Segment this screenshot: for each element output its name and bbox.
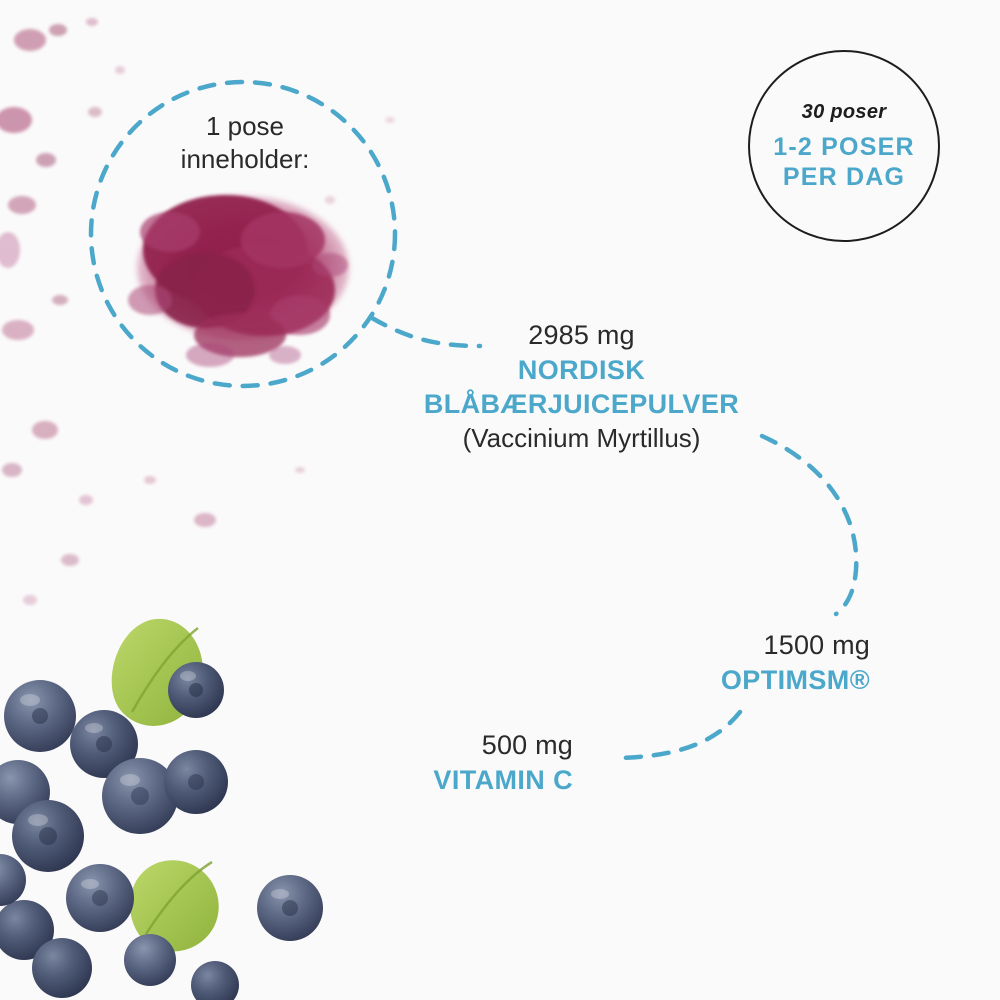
connector-2: [762, 436, 856, 614]
ingredient-3-name: VITAMIN C: [230, 763, 573, 798]
ingredient-1-amount: 2985 mg: [404, 318, 759, 353]
badge-dosage-line-1: 1-2 POSER: [773, 132, 914, 162]
ingredient-3: 500 mg VITAMIN C: [230, 728, 573, 797]
ingredient-2-name: OPTIMSM®: [500, 663, 870, 698]
ingredient-1: 2985 mg NORDISK BLÅBÆRJUICEPULVER (Vacci…: [404, 318, 759, 455]
ingredient-3-amount: 500 mg: [230, 728, 573, 763]
ingredient-2: 1500 mg OPTIMSM®: [500, 628, 870, 697]
ingredient-1-name-line-2: BLÅBÆRJUICEPULVER: [404, 387, 759, 422]
dosage-badge: 30 poser 1-2 POSER PER DAG: [748, 50, 940, 242]
badge-dosage-line-2: PER DAG: [773, 162, 914, 192]
ingredient-1-name-line-1: NORDISK: [404, 353, 759, 388]
powder-mound: [128, 195, 349, 367]
infographic-canvas: 1 pose inneholder: 30 poser 1-2 POSER PE…: [0, 0, 1000, 1000]
powder-specks: [0, 18, 395, 605]
callout-line-2: inneholder:: [150, 143, 340, 176]
badge-count-label: 30 poser: [802, 101, 887, 124]
connector-3: [620, 712, 740, 758]
ingredient-1-latin-name: (Vaccinium Myrtillus): [404, 422, 759, 456]
ingredient-2-amount: 1500 mg: [500, 628, 870, 663]
badge-dosage-label: 1-2 POSER PER DAG: [773, 132, 914, 192]
callout-line-1: 1 pose: [150, 110, 340, 143]
leaf-icon: [112, 619, 203, 726]
blueberry-cluster: [0, 619, 323, 1000]
leaf-icon: [130, 860, 219, 951]
callout-label: 1 pose inneholder:: [150, 110, 340, 176]
